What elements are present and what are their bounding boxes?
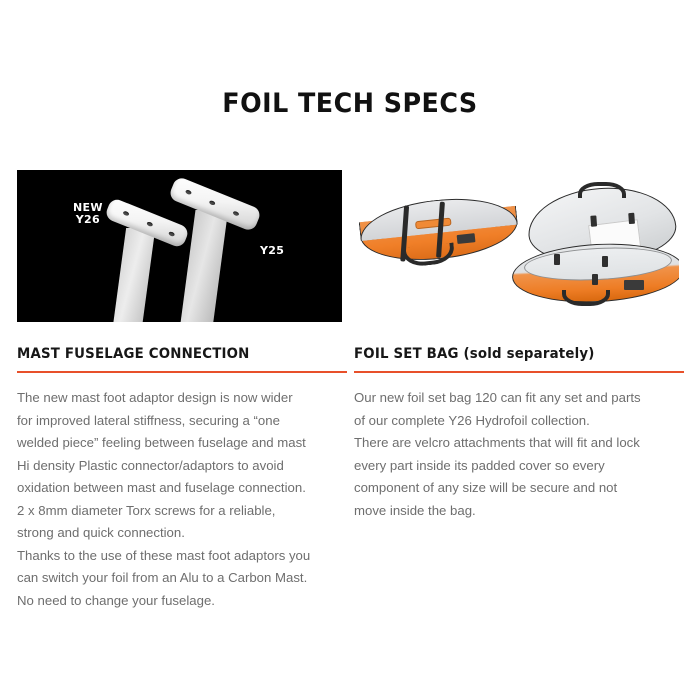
screw-hole-icon [209, 200, 216, 206]
bag-bottom-handle [562, 290, 610, 306]
spec-columns: NEW Y26 Y25 MAST FUSELAGE CONNECTION The… [17, 170, 683, 612]
screw-hole-icon [232, 211, 239, 217]
bag-lid-handle [578, 182, 626, 198]
bag-logo-patch [457, 233, 476, 244]
section-heading-mast-fuselage: MAST FUSELAGE CONNECTION [17, 346, 316, 362]
section-mast-fuselage-connection: NEW Y26 Y25 MAST FUSELAGE CONNECTION The… [17, 170, 342, 612]
section-body-foil-set-bag: Our new foil set bag 120 can fit any set… [354, 387, 694, 522]
velcro-strap [590, 215, 597, 226]
page-title: FOIL TECH SPECS [21, 88, 679, 119]
section-divider-rule [354, 371, 684, 373]
foil-bag-closed [357, 192, 518, 268]
screw-hole-icon [168, 231, 175, 237]
figure-label-y25: Y25 [260, 245, 284, 257]
velcro-strap [628, 213, 635, 224]
screw-hole-icon [123, 210, 130, 216]
screw-hole-icon [185, 189, 192, 195]
foil-bag-figure [354, 170, 679, 322]
screw-hole-icon [146, 221, 153, 227]
section-foil-set-bag: FOIL SET BAG (sold separately) Our new f… [354, 170, 679, 612]
velcro-strap [602, 256, 608, 267]
bag-illustration [354, 170, 679, 322]
mast-blade-y25 [180, 210, 228, 322]
velcro-strap [554, 254, 560, 265]
section-body-mast-fuselage: The new mast foot adaptor design is now … [17, 387, 357, 612]
figure-label-new-y26: NEW Y26 [73, 202, 103, 226]
foil-bag-open [512, 182, 679, 306]
foil-tech-specs-page: FOIL TECH SPECS [0, 0, 700, 700]
bag-strap-loop [402, 242, 456, 267]
velcro-strap [592, 274, 598, 285]
section-heading-foil-set-bag: FOIL SET BAG (sold separately) [354, 346, 653, 362]
mast-blade-y26 [113, 228, 156, 322]
mast-adaptor-figure: NEW Y26 Y25 [17, 170, 342, 322]
section-divider-rule [17, 371, 347, 373]
bag-logo-patch [624, 280, 644, 290]
adaptor-illustration: NEW Y26 Y25 [17, 170, 342, 322]
